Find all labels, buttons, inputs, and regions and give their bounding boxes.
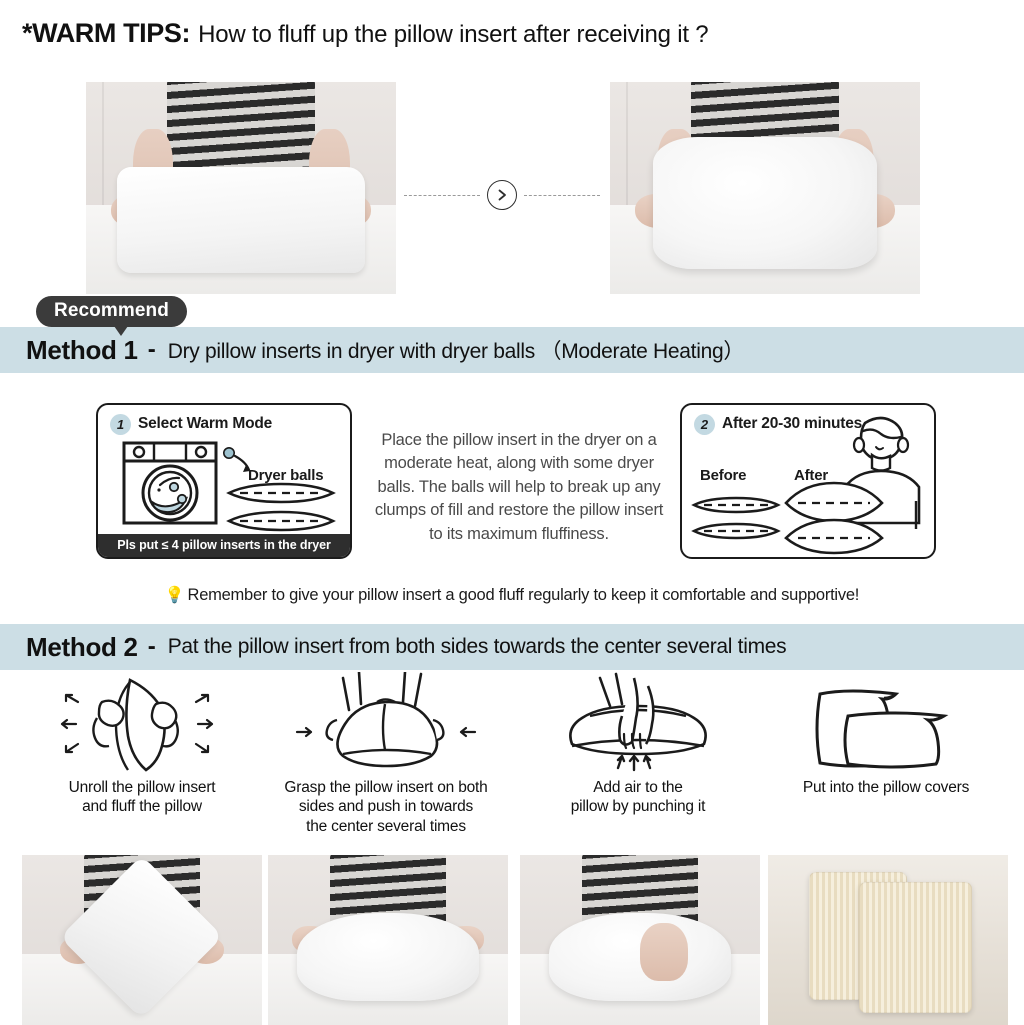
- method-1-label: Method 1: [26, 335, 138, 366]
- before-label: Before: [700, 467, 746, 484]
- fluffed-pillow: [653, 137, 876, 268]
- photo-unroll: [22, 855, 262, 1025]
- method-1-dash: -: [148, 336, 156, 364]
- method-2-description: Pat the pillow insert from both sides to…: [168, 635, 787, 659]
- page-title: *WARM TIPS: How to fluff up the pillow i…: [22, 18, 1002, 62]
- step-covers: Put into the pillow covers: [766, 670, 1006, 797]
- bottom-photo-row: [0, 855, 1024, 1025]
- flat-pillow-photo: [86, 82, 396, 294]
- step-unroll: Unroll the pillow insert and fluff the p…: [22, 670, 262, 817]
- photo-pat-sides: [268, 855, 508, 1025]
- method-2-label: Method 2: [26, 632, 138, 663]
- two-pillows-icon: [766, 670, 1006, 778]
- patted-pillow: [297, 913, 479, 1001]
- flat-pillow: [117, 167, 365, 273]
- step-caption: Add air to the pillow by punching it: [518, 778, 758, 817]
- page-title-question: How to fluff up the pillow insert after …: [198, 21, 708, 49]
- step-punch: Add air to the pillow by punching it: [518, 670, 758, 817]
- fluffed-pillow-photo: [610, 82, 920, 294]
- step-caption: Put into the pillow covers: [766, 778, 1006, 797]
- result-illustration-card: 2 After 20-30 minutes: [680, 403, 936, 559]
- method-1-paragraph: Place the pillow insert in the dryer on …: [368, 429, 670, 546]
- page-title-strong: *WARM TIPS:: [22, 18, 190, 49]
- step-caption: Unroll the pillow insert and fluff the p…: [22, 778, 262, 817]
- after-label: After: [794, 467, 828, 484]
- infographic-page: *WARM TIPS: How to fluff up the pillow i…: [0, 0, 1024, 1025]
- method-1-description: Dry pillow inserts in dryer with dryer b…: [168, 335, 744, 365]
- pillow-punch-icon: [518, 670, 758, 778]
- dashed-line-right: [524, 195, 600, 196]
- dryer-capacity-note: Pls put ≤ 4 pillow inserts in the dryer: [98, 534, 350, 557]
- reminder-line: 💡Remember to give your pillow insert a g…: [0, 585, 1024, 605]
- pillow-cover-front: [859, 882, 971, 1013]
- pillow-unroll-icon: [22, 670, 262, 778]
- photo-punch: [520, 855, 760, 1025]
- dryer-balls-label: Dryer balls: [248, 467, 323, 484]
- pillow-squeeze-icon: [266, 670, 506, 778]
- photo-covered-pillows: [768, 855, 1008, 1025]
- photo-wall-edge: [102, 82, 104, 213]
- step-caption: Grasp the pillow insert on both sides an…: [266, 778, 506, 836]
- method-2-dash: -: [148, 633, 156, 661]
- method-1-header: Method 1 - Dry pillow inserts in dryer w…: [0, 327, 1024, 373]
- reminder-text: Remember to give your pillow insert a go…: [188, 586, 860, 604]
- step-grasp: Grasp the pillow insert on both sides an…: [266, 670, 506, 836]
- method-2-header: Method 2 - Pat the pillow insert from bo…: [0, 624, 1024, 670]
- photo-wall-edge: [626, 82, 628, 213]
- method-2-steps: Unroll the pillow insert and fluff the p…: [0, 670, 1024, 855]
- recommend-badge: Recommend: [36, 296, 187, 327]
- lightbulb-icon: 💡: [165, 587, 185, 604]
- chevron-right-circle-icon: [487, 180, 517, 210]
- hand-pressing: [640, 923, 688, 981]
- dryer-illustration-card: 1 Select Warm Mode: [96, 403, 352, 559]
- dashed-line-left: [404, 195, 480, 196]
- photo-connector: [404, 178, 600, 212]
